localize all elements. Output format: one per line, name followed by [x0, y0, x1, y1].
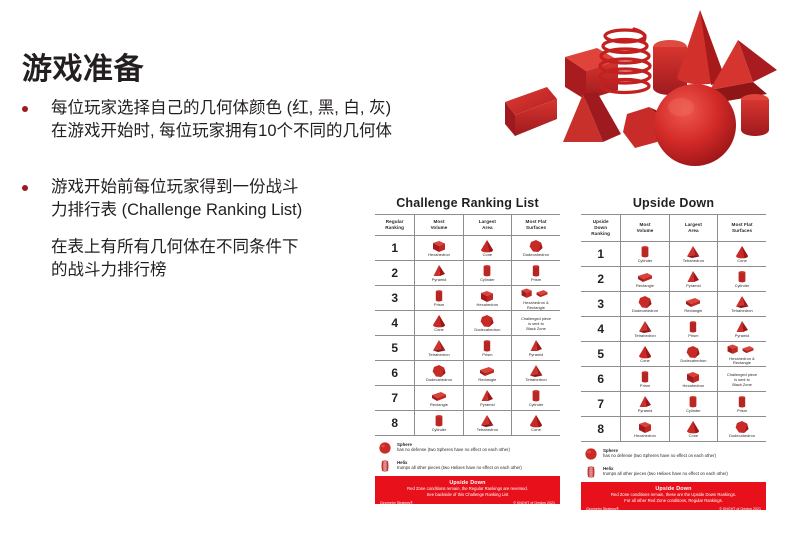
shape-label: Dodecahedron — [426, 378, 452, 383]
table-row: 8 Hexahedron Cone — [581, 417, 766, 442]
shape-cone-icon — [430, 313, 448, 328]
shape-prism-icon — [478, 338, 496, 353]
shape-cell: Tetrahedron — [718, 291, 766, 316]
shape-cell: Tetrahedron — [621, 316, 669, 341]
shape-dodecahedron-icon — [478, 313, 496, 328]
footnote-row: Sphere has no defense (two Spheres have … — [375, 439, 560, 455]
table-row: 4 Tetrahedron Prism — [581, 316, 766, 341]
shape-label: Dodecahedron — [523, 253, 549, 258]
shape-cell: Hexahedron — [669, 367, 717, 392]
shape-label: Tetrahedron — [731, 309, 752, 314]
sphere-icon — [581, 445, 601, 461]
shape-cone-icon — [733, 244, 751, 259]
shape-label: Dodecahedron — [729, 434, 755, 439]
shape-rectangle-icon — [636, 269, 654, 284]
bullet-line: 游戏开始前每位玩家得到一份战斗 — [51, 176, 302, 199]
upside-down-footnotes: Sphere has no defense (two Spheres have … — [581, 445, 766, 479]
callout-line: Red Zone conditions remain, these are th… — [586, 492, 761, 498]
shape-label: Cylinder — [686, 409, 701, 414]
footnote-row: Sphere has no defense (two Spheres have … — [581, 445, 766, 461]
shape-label: Tetrahedron — [634, 334, 655, 339]
shape-pyramid-icon — [527, 338, 545, 353]
shape-tetrahedron-icon — [733, 294, 751, 309]
table-header-row: RegularRankingMostVolumeLargestAreaMost … — [375, 215, 560, 236]
shape-prism-icon — [684, 319, 702, 334]
shape-cell: Cone — [621, 341, 669, 367]
upside-down-card: Upside DownUpsideDownRankingMostVolumeLa… — [581, 196, 766, 510]
brand-label: Geometry Strategy® — [586, 507, 619, 511]
shape-label: Tetrahedron — [525, 378, 546, 383]
shape-cell: Prism — [512, 260, 560, 285]
shape-tetrahedron-icon — [636, 319, 654, 334]
footnote-desc: has no defense (two Spheres have no effe… — [603, 453, 716, 458]
shape-hexahedron-rectangle-icon — [521, 286, 551, 301]
challenge-ranking-list-card: Challenge Ranking ListRegularRankingMost… — [375, 196, 560, 504]
shape-label: Cone — [483, 253, 493, 258]
shape-hexahedron-icon — [478, 288, 496, 303]
shape-cell: Cylinder — [463, 260, 511, 285]
shape-label: Cone — [689, 434, 699, 439]
footnote-desc: has no defense (two Spheres have no effe… — [397, 447, 510, 452]
shape-cone-icon — [478, 238, 496, 253]
shape-cell: Rectangle — [463, 361, 511, 386]
shape-pyramid-icon — [684, 269, 702, 284]
rank-cell: 4 — [375, 311, 415, 336]
footnote-row: Helix trumps all other pieces (two Helix… — [581, 463, 766, 479]
shape-cell: Cone — [463, 235, 511, 260]
shape-cone-icon — [636, 344, 654, 359]
shape-dodecahedron-icon — [527, 238, 545, 253]
table-row: 8 Cylinder Tetrahedron — [375, 411, 560, 436]
column-header-2: LargestArea — [669, 215, 717, 242]
shape-rectangle-icon — [430, 388, 448, 403]
shape-cell: Rectangle — [415, 386, 463, 411]
shape-cell: Hexahedron — [463, 285, 511, 311]
shape-label: Prism — [737, 409, 747, 414]
shape-label: Prism — [688, 334, 698, 339]
shape-label: Pyramid — [638, 409, 653, 414]
bullet-dot-icon — [22, 185, 28, 191]
rank-cell: 4 — [581, 316, 621, 341]
rank-cell: 5 — [581, 341, 621, 367]
footnote-row: Helix trumps all other pieces (two Helix… — [375, 457, 560, 473]
shape-label: Cone — [640, 359, 650, 364]
shape-cell: Prism — [718, 392, 766, 417]
shape-sphere-icon — [376, 440, 394, 455]
shape-label: Cylinder — [735, 284, 750, 289]
bullet-line: 的战斗力排行榜 — [51, 259, 302, 282]
shape-cell: Prism — [415, 285, 463, 311]
shape-rectangle-icon — [430, 388, 448, 403]
shape-label: Hexahedron — [428, 253, 450, 258]
shape-cone-icon — [527, 413, 545, 428]
shape-cylinder-icon — [527, 388, 545, 403]
shape-tetrahedron-icon — [478, 413, 496, 428]
shape-cell: Cylinder — [415, 411, 463, 436]
helix-icon — [375, 457, 395, 473]
shape-pyramid-icon — [430, 263, 448, 278]
upside-down-upside-down-callout: Upside Down Red Zone conditions remain, … — [581, 482, 766, 510]
challenge-ranking-list-table: RegularRankingMostVolumeLargestAreaMost … — [375, 214, 560, 436]
shape-rectangle-icon — [478, 363, 496, 378]
shape-hexahedron-icon — [636, 419, 654, 434]
shape-cylinder-icon — [636, 244, 654, 259]
shape-label: Prism — [482, 353, 492, 358]
shape-label: Cone — [531, 428, 541, 433]
shape-cell: Hexahedron — [621, 417, 669, 442]
page-title: 游戏准备 — [22, 44, 144, 88]
shape-cone-icon — [684, 419, 702, 434]
rank-cell: 5 — [375, 336, 415, 361]
callout-line: See backside of this Challenge Ranking L… — [380, 492, 555, 498]
shape-dodecahedron-icon — [733, 419, 751, 434]
shape-cell: Tetrahedron — [415, 336, 463, 361]
table-row: 4 Cone Dodecahedron — [375, 311, 560, 336]
shape-pyramid-icon — [527, 338, 545, 353]
shape-cell: Dodecahedron — [669, 341, 717, 367]
table-row: 2 Rectangle Pyramid — [581, 266, 766, 291]
black-zone-note-cell: Challenged pieceis sent toBlack Zone — [512, 311, 560, 336]
shape-label: Prism — [434, 303, 444, 308]
shape-label: Tetrahedron — [428, 353, 449, 358]
shape-pyramid-icon — [684, 269, 702, 284]
shape-prism-icon — [636, 369, 654, 384]
shape-cell: Tetrahedron — [512, 361, 560, 386]
shape-label: Cylinder — [638, 259, 653, 264]
shape-cell: Pyramid — [621, 392, 669, 417]
table-row: 1 Cylinder Tetrahedron — [581, 241, 766, 266]
rank-cell: 1 — [375, 235, 415, 260]
shape-label: Hexahedron — [683, 384, 705, 389]
column-header-0: RegularRanking — [375, 215, 415, 236]
shape-pyramid-icon — [636, 394, 654, 409]
bullet-text-2: 游戏开始前每位玩家得到一份战斗 力排行表 (Challenge Ranking … — [51, 176, 302, 283]
copyright-label: © KNGHT of Geston 2021 — [719, 507, 761, 511]
shape-cell: Cone — [669, 417, 717, 442]
rank-cell: 8 — [375, 411, 415, 436]
table-row: 7 Rectangle Pyramid — [375, 386, 560, 411]
table-row: 7 Pyramid Cylinder — [581, 392, 766, 417]
shape-cell: Dodecahedron — [415, 361, 463, 386]
shape-label: Hexahedron &Rectangle — [729, 357, 754, 367]
shape-tetrahedron-icon — [478, 413, 496, 428]
brand-label: Geometry Strategy® — [380, 501, 413, 505]
shape-cone-icon — [684, 419, 702, 434]
shape-label: Hexahedron &Rectangle — [523, 301, 548, 311]
shape-cell: Pyramid — [463, 386, 511, 411]
shape-label: Hexahedron — [634, 434, 656, 439]
rank-cell: 1 — [581, 241, 621, 266]
shape-tetrahedron-icon — [684, 244, 702, 259]
shape-pyramid-icon — [478, 388, 496, 403]
shape-cylinder-icon — [733, 269, 751, 284]
rank-cell: 8 — [581, 417, 621, 442]
shape-tetrahedron-icon — [684, 244, 702, 259]
copyright-label: © KNGHT of Geston 2021 — [513, 501, 555, 505]
shape-dodecahedron-icon — [684, 344, 702, 359]
shape-cell: Pyramid — [512, 336, 560, 361]
shape-label: Cylinder — [432, 428, 447, 433]
shape-dodecahedron-icon — [478, 313, 496, 328]
spacer — [51, 223, 302, 236]
shape-label: Cylinder — [480, 278, 495, 283]
table-header-row: UpsideDownRankingMostVolumeLargestAreaMo… — [581, 215, 766, 242]
list-item: 每位玩家选择自己的几何体颜色 (红, 黑, 白, 灰) 在游戏开始时, 每位玩家… — [22, 97, 382, 144]
shape-cone-icon — [733, 244, 751, 259]
shape-tetrahedron-icon — [430, 338, 448, 353]
shape-label: Cone — [434, 328, 444, 333]
bullet-text-1: 每位玩家选择自己的几何体颜色 (红, 黑, 白, 灰) 在游戏开始时, 每位玩家… — [51, 97, 392, 144]
shape-cell: Cylinder — [512, 386, 560, 411]
shape-prism-icon — [733, 394, 751, 409]
shape-cylinder-icon — [684, 394, 702, 409]
rank-cell: 6 — [375, 361, 415, 386]
list-item: 游戏开始前每位玩家得到一份战斗 力排行表 (Challenge Ranking … — [22, 176, 382, 283]
shape-label: Rectangle — [684, 309, 702, 314]
shape-cell: Cylinder — [718, 266, 766, 291]
shape-prism-icon — [430, 288, 448, 303]
shape-label: Tetrahedron — [477, 428, 498, 433]
shape-helix-icon — [582, 464, 600, 479]
shape-helix — [600, 29, 650, 93]
bullet-list: 每位玩家选择自己的几何体颜色 (红, 黑, 白, 灰) 在游戏开始时, 每位玩家… — [22, 97, 382, 311]
shape-cone-icon — [527, 413, 545, 428]
shape-rectangle-icon — [478, 363, 496, 378]
rank-cell: 3 — [581, 291, 621, 316]
shape-cone-icon — [478, 238, 496, 253]
table-row: 3 Dodecahedron Rectangle — [581, 291, 766, 316]
shape-hexahedron-rectangle-icon — [521, 286, 551, 301]
shape-dodecahedron-icon — [636, 294, 654, 309]
shape-cylinder-icon — [684, 394, 702, 409]
shape-hexahedron-icon — [430, 238, 448, 253]
shape-label: Pyramid — [686, 284, 701, 289]
challenge-ranking-list-upside-down-callout: Upside Down Red Zone conditions remain, … — [375, 476, 560, 504]
shape-cylinder-icon — [478, 263, 496, 278]
shape-cell: Prism — [621, 367, 669, 392]
column-header-0: UpsideDownRanking — [581, 215, 621, 242]
shape-cylinder-icon — [636, 244, 654, 259]
shape-rectangle-icon — [684, 294, 702, 309]
shape-label: Pyramid — [735, 334, 750, 339]
shape-tetrahedron-icon — [733, 294, 751, 309]
shape-cell: Cylinder — [669, 392, 717, 417]
shape-cell: Rectangle — [621, 266, 669, 291]
shape-pyramid-icon — [478, 388, 496, 403]
shape-hexahedron-icon — [684, 369, 702, 384]
bullet-line: 在游戏开始时, 每位玩家拥有10个不同的几何体 — [51, 120, 392, 143]
shape-cell: Cone — [415, 311, 463, 336]
shape-label: Pyramid — [529, 353, 544, 358]
challenge-ranking-list-footnotes: Sphere has no defense (two Spheres have … — [375, 439, 560, 473]
column-header-3: Most FlatSurfaces — [718, 215, 766, 242]
helix-icon — [581, 463, 601, 479]
shape-cell: Cone — [718, 241, 766, 266]
bullet-line: 每位玩家选择自己的几何体颜色 (红, 黑, 白, 灰) — [51, 97, 392, 120]
shape-tetrahedron-icon — [527, 363, 545, 378]
shape-cylinder-icon — [733, 269, 751, 284]
shape-cylinder-icon — [478, 263, 496, 278]
table-row: 2 Pyramid Cylinder — [375, 260, 560, 285]
shape-cylinder-icon — [430, 413, 448, 428]
black-zone-note-cell: Challenged pieceis sent toBlack Zone — [718, 367, 766, 392]
shape-label: Hexahedron — [477, 303, 499, 308]
shape-label: Pyramid — [480, 403, 495, 408]
shape-cone-icon — [636, 344, 654, 359]
shape-cell: Tetrahedron — [463, 411, 511, 436]
shape-prism-icon — [527, 263, 545, 278]
shape-dodecahedron-icon — [527, 238, 545, 253]
shape-label: Dodecahedron — [680, 359, 706, 364]
table-row: 5 Tetrahedron Prism — [375, 336, 560, 361]
shape-prism-icon — [478, 338, 496, 353]
shape-dodecahedron-icon — [636, 294, 654, 309]
shape-prism-icon — [733, 394, 751, 409]
rank-cell: 7 — [581, 392, 621, 417]
shape-prism-icon — [430, 288, 448, 303]
shape-label: Prism — [531, 278, 541, 283]
table-row: 6 Dodecahedron Rectangle — [375, 361, 560, 386]
shape-cell: Dodecahedron — [621, 291, 669, 316]
rank-cell: 6 — [581, 367, 621, 392]
shape-hexahedron-icon — [430, 238, 448, 253]
shape-cylinder-icon — [527, 388, 545, 403]
shape-cell: Rectangle — [669, 291, 717, 316]
table-row: 6 Prism Hexahedron — [581, 367, 766, 392]
shape-cylinder-icon — [430, 413, 448, 428]
rank-cell: 7 — [375, 386, 415, 411]
callout-line: For all other Red Zone conditions, Regul… — [586, 498, 761, 504]
shape-cell: Dodecahedron — [463, 311, 511, 336]
shape-cell: Hexahedron — [415, 235, 463, 260]
shape-tetrahedron-icon — [527, 363, 545, 378]
shape-hexahedron-icon — [636, 419, 654, 434]
rank-cell: 2 — [581, 266, 621, 291]
shape-label: Pyramid — [432, 278, 447, 283]
shape-tetrahedron-icon — [430, 338, 448, 353]
shape-hexahedron-icon — [478, 288, 496, 303]
shape-label: Rectangle — [430, 403, 448, 408]
shape-pyramid-icon — [636, 394, 654, 409]
rank-cell: 3 — [375, 285, 415, 311]
column-header-1: MostVolume — [415, 215, 463, 236]
shape-prism-icon — [684, 319, 702, 334]
challenge-ranking-list-title: Challenge Ranking List — [375, 196, 560, 210]
shape-cell: Cone — [512, 411, 560, 436]
shape-pyramid-icon — [733, 319, 751, 334]
shape-cone-icon — [430, 313, 448, 328]
column-header-2: LargestArea — [463, 215, 511, 236]
shape-cell: Prism — [463, 336, 511, 361]
shape-prism-icon — [636, 369, 654, 384]
table-row: 3 Prism Hexahedron — [375, 285, 560, 311]
shape-label: Dodecahedron — [474, 328, 500, 333]
shape-rectangle-icon — [684, 294, 702, 309]
shape-prism-icon — [527, 263, 545, 278]
footnote-desc: trumps all other pieces (two Helixes hav… — [603, 471, 728, 476]
bullet-line: 力排行表 (Challenge Ranking List) — [51, 199, 302, 222]
shape-label: Rectangle — [478, 378, 496, 383]
column-header-1: MostVolume — [621, 215, 669, 242]
shape-cell: Tetrahedron — [669, 241, 717, 266]
shape-cell: Pyramid — [718, 316, 766, 341]
shape-cell: Pyramid — [669, 266, 717, 291]
shape-sphere — [654, 84, 736, 166]
sphere-icon — [375, 439, 395, 455]
bullet-dot-icon — [22, 106, 28, 112]
shape-label: Rectangle — [636, 284, 654, 289]
shape-cylinder — [741, 94, 769, 136]
shape-cell: Cylinder — [621, 241, 669, 266]
shape-label: Dodecahedron — [632, 309, 658, 314]
bullet-line: 在表上有所有几何体在不同条件下 — [51, 236, 302, 259]
upside-down-title: Upside Down — [581, 196, 766, 210]
shape-dodecahedron-icon — [733, 419, 751, 434]
rank-cell: 2 — [375, 260, 415, 285]
shape-pyramid-icon — [733, 319, 751, 334]
shape-hexahedron-rectangle-icon — [727, 342, 757, 357]
shape-cell: Prism — [669, 316, 717, 341]
shape-cell: Hexahedron &Rectangle — [718, 341, 766, 367]
shape-hexahedron-rectangle-icon — [727, 342, 757, 357]
table-row: 1 Hexahedron Cone — [375, 235, 560, 260]
shape-label: Cylinder — [529, 403, 544, 408]
shape-pyramid — [563, 92, 621, 142]
shape-dodecahedron-icon — [430, 363, 448, 378]
red-geometric-solids-photo — [505, 2, 790, 172]
footnote-desc: trumps all other pieces (two Helixes hav… — [397, 465, 522, 470]
shape-label: Cone — [737, 259, 747, 264]
shape-rectangle-icon — [636, 269, 654, 284]
shape-dodecahedron-icon — [684, 344, 702, 359]
shape-cell: Hexahedron &Rectangle — [512, 285, 560, 311]
column-header-3: Most FlatSurfaces — [512, 215, 560, 236]
shape-cell: Dodecahedron — [718, 417, 766, 442]
shape-hexahedron-icon — [684, 369, 702, 384]
shape-label: Tetrahedron — [683, 259, 704, 264]
shape-rectangle — [505, 87, 557, 136]
slide-root: 游戏准备 每位玩家选择自己的几何体颜色 (红, 黑, 白, 灰) 在游戏开始时,… — [0, 0, 790, 545]
shape-cell: Pyramid — [415, 260, 463, 285]
shape-label: Prism — [640, 384, 650, 389]
shape-sphere-icon — [582, 446, 600, 461]
shape-helix-icon — [376, 458, 394, 473]
shape-pyramid-icon — [430, 263, 448, 278]
shape-tetrahedron-icon — [636, 319, 654, 334]
shape-dodecahedron-icon — [430, 363, 448, 378]
table-row: 5 Cone Dodecahedron — [581, 341, 766, 367]
shape-cell: Dodecahedron — [512, 235, 560, 260]
upside-down-table: UpsideDownRankingMostVolumeLargestAreaMo… — [581, 214, 766, 442]
